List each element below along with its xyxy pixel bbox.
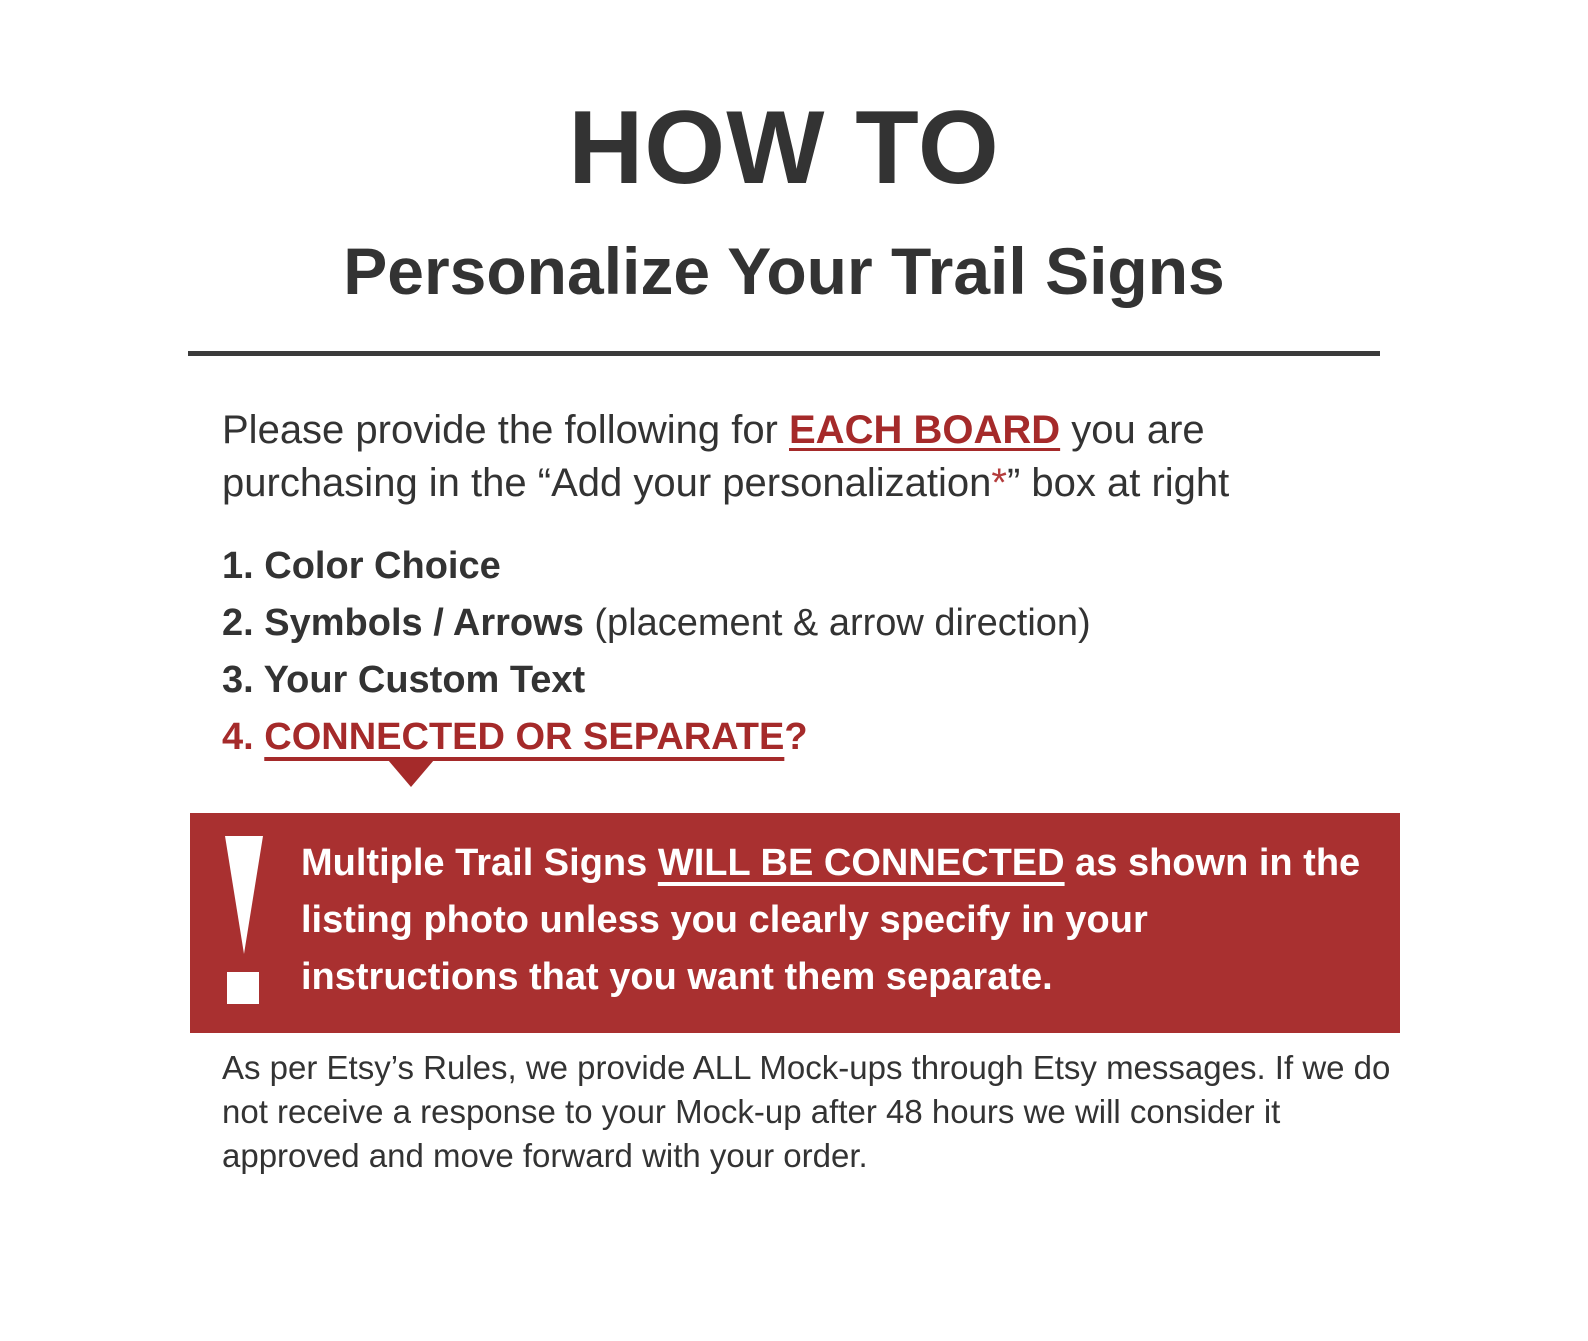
exclamation-mark-icon: [215, 836, 277, 1004]
warning-text: Multiple Trail Signs WILL BE CONNECTED a…: [301, 835, 1371, 1006]
list-item-label: Color Choice: [264, 545, 500, 587]
list-item-note: ?: [784, 716, 807, 758]
warning-text-part1: Multiple Trail Signs: [301, 842, 658, 884]
down-arrow-icon: [388, 760, 434, 787]
intro-emphasis-each-board: EACH BOARD: [789, 408, 1060, 452]
asterisk-marker: *: [991, 461, 1007, 505]
list-item: 2. Symbols / Arrows (placement & arrow d…: [222, 595, 1382, 652]
list-item: 1. Color Choice: [222, 538, 1382, 595]
warning-emphasis-will-be-connected: WILL BE CONNECTED: [658, 842, 1065, 884]
list-item-number: 4.: [222, 716, 254, 758]
list-item-label: CONNECTED OR SEPARATE: [264, 716, 784, 758]
exclamation-stem: [225, 836, 263, 954]
how-to-infographic: HOW TO Personalize Your Trail Signs Plea…: [0, 0, 1588, 1341]
page-header: HOW TO Personalize Your Trail Signs: [188, 96, 1380, 304]
warning-banner: Multiple Trail Signs WILL BE CONNECTED a…: [190, 813, 1400, 1033]
header-divider: [188, 351, 1380, 356]
list-item-label: Your Custom Text: [264, 659, 586, 701]
intro-lead-text: Please provide the following for: [222, 408, 789, 452]
list-item: 3. Your Custom Text: [222, 652, 1382, 709]
list-item: 4. CONNECTED OR SEPARATE?: [222, 709, 1382, 766]
page-title: HOW TO: [188, 96, 1380, 200]
list-item-note: (placement & arrow direction): [584, 602, 1091, 644]
requirements-list: 1. Color Choice 2. Symbols / Arrows (pla…: [222, 538, 1382, 766]
intro-paragraph: Please provide the following for EACH BO…: [222, 404, 1402, 510]
list-item-label: Symbols / Arrows: [264, 602, 584, 644]
page-subtitle: Personalize Your Trail Signs: [188, 200, 1380, 304]
list-item-number: 3.: [222, 659, 254, 701]
footnote-paragraph: As per Etsy’s Rules, we provide ALL Mock…: [222, 1046, 1402, 1178]
list-item-number: 2.: [222, 602, 254, 644]
intro-tail-text: ” box at right: [1007, 461, 1229, 505]
list-item-number: 1.: [222, 545, 254, 587]
exclamation-dot: [227, 972, 259, 1004]
